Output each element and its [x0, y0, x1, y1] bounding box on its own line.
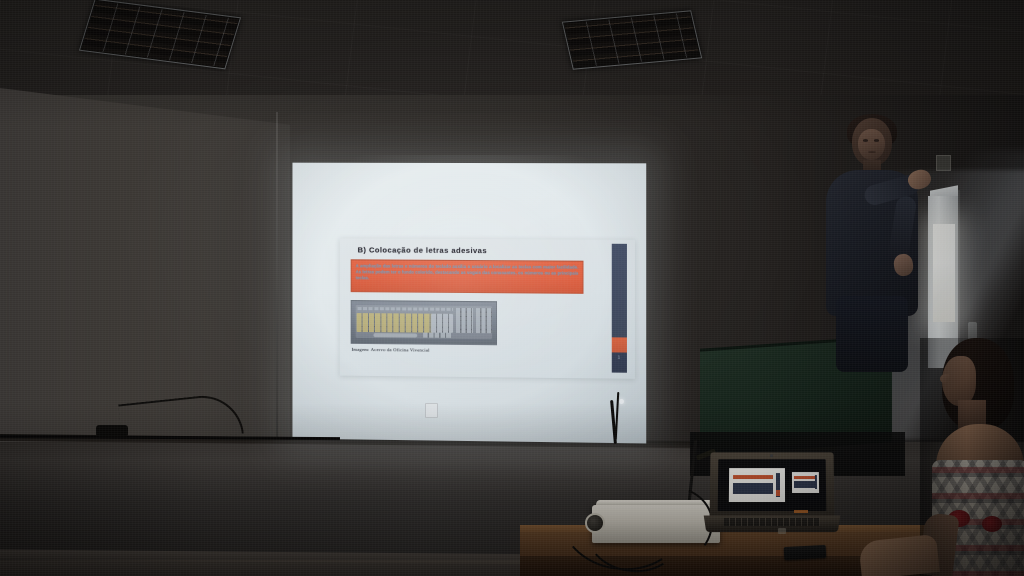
sidebar-orange-block — [612, 337, 627, 352]
interpreter-mouth — [868, 151, 876, 153]
wall-outlet — [425, 403, 438, 418]
slide-page-number: 1 — [612, 354, 627, 359]
laptop-screen[interactable] — [718, 459, 827, 511]
laptop-lid — [710, 452, 835, 518]
mini-slide-sidebar-orange — [776, 490, 780, 496]
sidebar-navy-block — [612, 244, 627, 338]
laptop-status-light — [794, 510, 808, 513]
audience-nose — [940, 374, 950, 383]
interpreter-left-eye — [863, 139, 868, 142]
projection-screen-area: B) Colocação de letras adesivas A amplia… — [292, 163, 646, 444]
mini-slide-navy-band — [733, 483, 773, 494]
mini-next-navy-band — [794, 481, 815, 488]
floor-front-band — [0, 560, 560, 576]
mini-next-orange-band — [794, 476, 815, 479]
slide-body-textbox: A ampliação das letras e números do tecl… — [351, 259, 584, 294]
wall-corner-edge — [276, 112, 278, 442]
laptop[interactable] — [710, 452, 834, 536]
mini-slide-orange-band — [733, 475, 773, 479]
laptop-keyboard[interactable] — [724, 518, 820, 526]
webcam-icon — [770, 454, 773, 457]
audience-top-motif-2 — [982, 516, 1002, 532]
slide-sidebar: 1 — [612, 244, 627, 373]
presenter-next-slide[interactable] — [792, 472, 819, 493]
photo-softness-overlay — [352, 301, 496, 344]
interpreter-face — [858, 129, 885, 160]
laptop-touchpad[interactable] — [778, 528, 786, 534]
interpreter-right-eye — [874, 139, 879, 142]
presentation-slide: B) Colocação de letras adesivas A amplia… — [340, 238, 635, 379]
image-caption: Imagem: Acervo da Oficina Vivencial — [352, 347, 430, 353]
keyboard-photo — [351, 300, 497, 345]
presentation-room-photo: B) Colocação de letras adesivas A amplia… — [0, 0, 1024, 576]
sign-language-interpreter — [806, 118, 946, 368]
mini-next-sidebar — [815, 475, 817, 489]
presenter-current-slide[interactable] — [729, 468, 785, 502]
slide-title: B) Colocação de letras adesivas — [358, 245, 487, 255]
slide-body-text: A ampliação das letras e números do tecl… — [356, 263, 579, 283]
cable-connector-light — [619, 399, 624, 404]
interpreter-lower-body — [836, 296, 908, 372]
mobile-phone[interactable] — [784, 545, 827, 560]
